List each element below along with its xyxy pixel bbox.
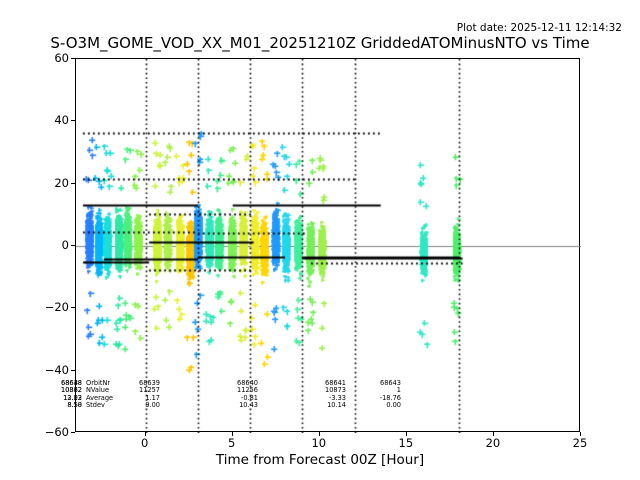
stats-block: 68641 10873 -3.33 10.14	[300, 380, 346, 409]
x-tick-mark	[232, 432, 233, 436]
y-tick-mark	[71, 183, 75, 184]
x-tick-label: 25	[573, 436, 588, 450]
y-tick-label: −40	[0, 363, 69, 377]
stats-block: 68640 11256 -0.81 10.43	[212, 380, 258, 409]
x-tick-label: 15	[399, 436, 414, 450]
y-tick-label: 0	[0, 238, 69, 252]
y-tick-label: 40	[0, 113, 69, 127]
y-tick-mark	[71, 120, 75, 121]
stats-block: 68648 10332 12.23 8.58	[36, 380, 82, 409]
y-tick-mark	[71, 58, 75, 59]
y-tick-mark	[71, 370, 75, 371]
x-axis-label: Time from Forecast 00Z [Hour]	[0, 452, 640, 468]
stats-block: 68639 11257 1.17 9.00	[114, 380, 160, 409]
y-tick-mark	[71, 245, 75, 246]
x-tick-label: 20	[486, 436, 501, 450]
x-tick-mark	[580, 432, 581, 436]
x-tick-mark	[319, 432, 320, 436]
x-tick-label: 5	[228, 436, 235, 450]
y-tick-label: −60	[0, 425, 69, 439]
y-tick-label: −20	[0, 300, 69, 314]
x-tick-mark	[493, 432, 494, 436]
page-title: S-O3M_GOME_VOD_XX_M01_20251210Z GriddedA…	[0, 34, 640, 52]
y-axis-label: GriddedATOMinusNTO	[0, 96, 4, 245]
stats-labels: OrbitNr NValue Average Stdev	[86, 380, 113, 409]
plot-date-label: Plot date: 2025-12-11 12:14:32	[457, 22, 622, 34]
x-tick-label: 10	[311, 436, 326, 450]
y-tick-label: 60	[0, 51, 69, 65]
y-tick-label: 20	[0, 176, 69, 190]
x-tick-mark	[145, 432, 146, 436]
plot-axes	[75, 58, 580, 432]
y-tick-mark	[71, 307, 75, 308]
stats-block: 68643 1 -18.76 0.00	[355, 380, 401, 409]
figure-root: Plot date: 2025-12-11 12:14:32 S-O3M_GOM…	[0, 0, 640, 480]
x-tick-label: 0	[141, 436, 148, 450]
x-tick-mark	[406, 432, 407, 436]
scatter-canvas	[76, 59, 581, 433]
y-tick-mark	[71, 432, 75, 433]
